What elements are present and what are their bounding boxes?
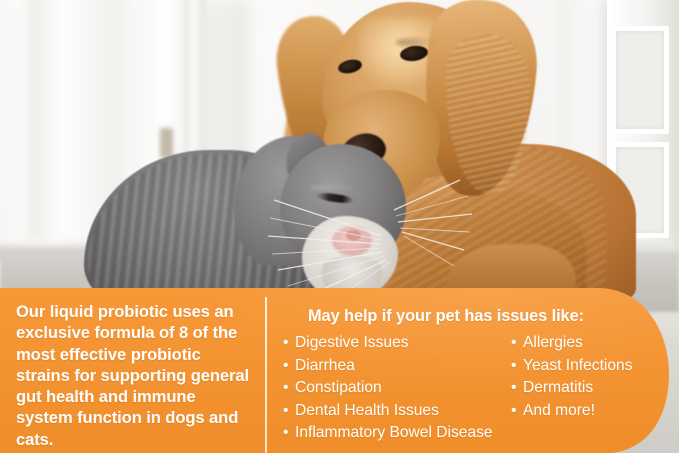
list-item: Inflammatory Bowel Disease bbox=[283, 422, 523, 445]
infographic-banner: Our liquid probiotic uses an exclusive f… bbox=[0, 0, 679, 453]
list-item: Digestive Issues bbox=[283, 332, 523, 355]
panel-content: Our liquid probiotic uses an exclusive f… bbox=[0, 288, 679, 453]
cat-brow bbox=[310, 184, 358, 191]
benefits-bullet-columns: Digestive Issues Diarrhea Constipation D… bbox=[281, 332, 671, 444]
list-item: Constipation bbox=[283, 377, 523, 400]
benefits-list-secondary: Allergies Yeast Infections Dermatitis An… bbox=[511, 332, 679, 422]
benefits-list-primary: Digestive Issues Diarrhea Constipation D… bbox=[283, 332, 523, 445]
benefits-column: May help if your pet has issues like: Di… bbox=[281, 306, 671, 444]
intro-column: Our liquid probiotic uses an exclusive f… bbox=[16, 301, 252, 450]
list-item: Diarrhea bbox=[283, 355, 523, 378]
cat-nose bbox=[346, 230, 361, 241]
list-item: Allergies bbox=[511, 332, 679, 355]
cat-grey-shorthair bbox=[84, 130, 444, 310]
benefits-heading: May help if your pet has issues like: bbox=[308, 306, 671, 326]
list-item: Dental Health Issues bbox=[283, 400, 523, 423]
list-item: Dermatitis bbox=[511, 377, 679, 400]
column-divider bbox=[265, 297, 267, 453]
intro-paragraph: Our liquid probiotic uses an exclusive f… bbox=[16, 301, 252, 450]
list-item: And more! bbox=[511, 400, 679, 423]
list-item: Yeast Infections bbox=[511, 355, 679, 378]
